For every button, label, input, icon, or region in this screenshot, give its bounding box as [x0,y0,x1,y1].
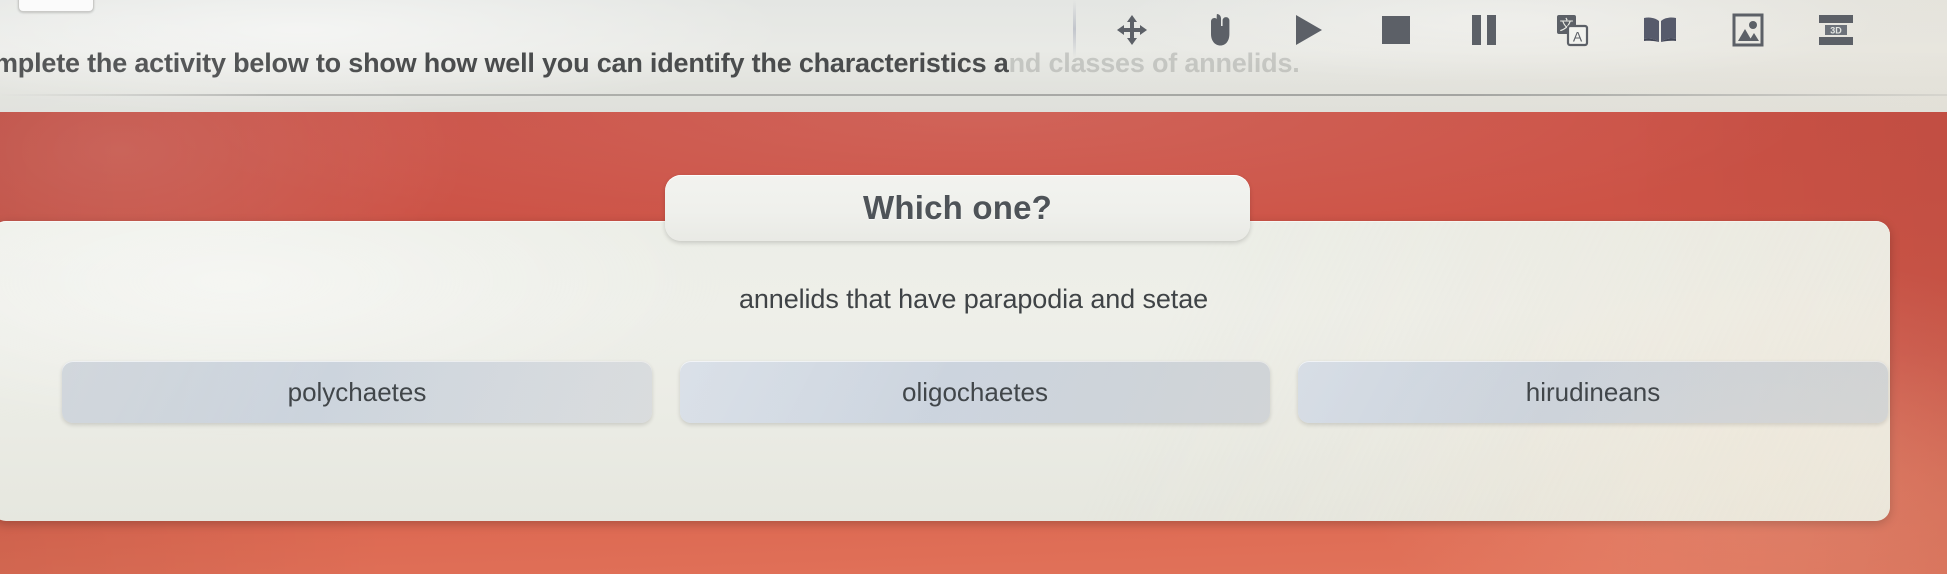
book-icon-button[interactable] [1631,6,1689,54]
hand-icon-button[interactable] [1191,6,1249,54]
svg-text:A: A [1573,29,1583,45]
pause-icon [1469,13,1499,47]
image-icon [1732,13,1764,47]
book-icon [1642,15,1678,45]
hand-icon [1205,12,1235,48]
answer-option-label: polychaetes [288,377,427,408]
corner-tab[interactable] [18,0,94,12]
pause-icon-button[interactable] [1455,6,1513,54]
move-icon [1115,13,1149,47]
media-toolbar: 文 A [1089,0,1879,60]
question-title-pill: Which one? [665,175,1250,241]
media-3d-icon: 3D [1818,14,1854,46]
stop-icon [1380,14,1412,46]
media-3d-icon-button[interactable]: 3D [1807,6,1865,54]
move-icon-button[interactable] [1103,6,1161,54]
answer-option-hirudineans[interactable]: hirudineans [1298,361,1888,423]
stop-icon-button[interactable] [1367,6,1425,54]
header-divider [0,94,1947,96]
answer-option-oligochaetes[interactable]: oligochaetes [680,361,1270,423]
answer-option-label: hirudineans [1526,377,1660,408]
svg-text:3D: 3D [1830,26,1842,36]
app-screen: mplete the activity below to show how we… [0,0,1947,574]
image-icon-button[interactable] [1719,6,1777,54]
instruction-text-visible: mplete the activity below to show how we… [0,48,1009,78]
play-icon-button[interactable] [1279,6,1337,54]
play-icon [1292,13,1324,47]
translate-icon-button[interactable]: 文 A [1543,6,1601,54]
answer-option-label: oligochaetes [902,377,1048,408]
translate-icon: 文 A [1555,13,1589,47]
question-prompt: annelids that have parapodia and setae [0,284,1947,315]
page-title: Which one? [863,189,1052,227]
answer-options: polychaetes oligochaetes hirudineans [62,361,1888,423]
header-bar: mplete the activity below to show how we… [0,0,1947,112]
answer-option-polychaetes[interactable]: polychaetes [62,361,652,423]
